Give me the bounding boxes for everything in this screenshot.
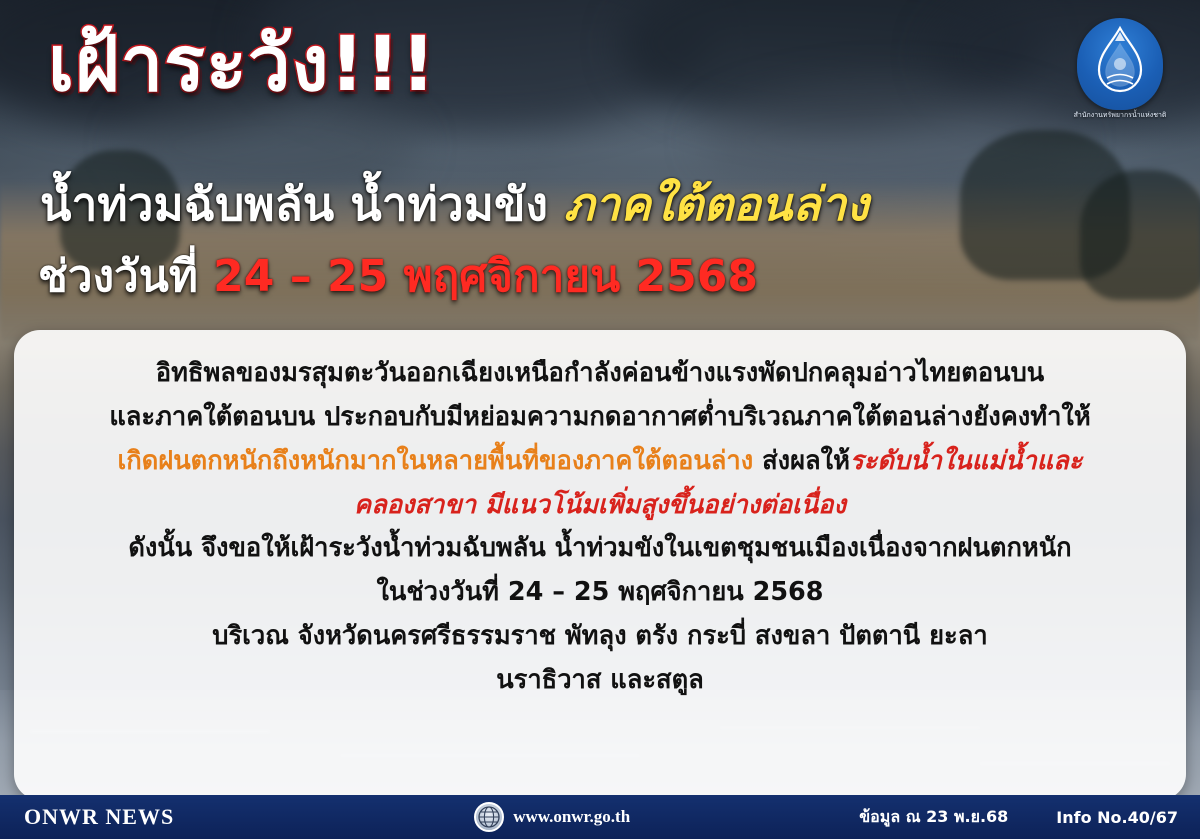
subtitle-line-2: ช่วงวันที่ 24 – 25 พฤศจิกายน 2568 bbox=[38, 252, 758, 303]
footer-bar: ONWR NEWS www.onwr.go.th ข้อมูล ณ 23 พ.ย… bbox=[0, 795, 1200, 839]
subtitle-region-highlight: ภาคใต้ตอนล่าง bbox=[564, 177, 869, 231]
footer-info-number: Info No.40/67 bbox=[1056, 808, 1178, 827]
body-line-4: คลองสาขา มีแนวโน้มเพิ่มสูงขึ้นอย่างต่อเน… bbox=[40, 484, 1160, 528]
announcement-panel: อิทธิพลของมรสุมตะวันออกเฉียงเหนือกำลังค่… bbox=[14, 330, 1186, 800]
tree-silhouette bbox=[1080, 170, 1200, 300]
page-title: เฝ้าระวัง!!! bbox=[48, 26, 437, 102]
poster-root: สำนักงานทรัพยากรน้ำแห่งชาติ เฝ้าระวัง!!!… bbox=[0, 0, 1200, 839]
footer-data-date: ข้อมูล ณ 23 พ.ย.68 bbox=[859, 805, 1008, 830]
body-line-2: และภาคใต้ตอนบน ประกอบกับมีหย่อมความกดอาก… bbox=[40, 396, 1160, 440]
body-line-5: ดังนั้น จึงขอให้เฝ้าระวังน้ำท่วมฉับพลัน … bbox=[40, 527, 1160, 571]
subtitle-line-1: น้ำท่วมฉับพลัน น้ำท่วมขัง ภาคใต้ตอนล่าง bbox=[40, 178, 869, 231]
subtitle-date-range: 24 – 25 พฤศจิกายน 2568 bbox=[213, 251, 758, 302]
body-line-6: ในช่วงวันที่ 24 – 25 พฤศจิกายน 2568 bbox=[40, 571, 1160, 615]
body-line-3-black: ส่งผลให้ bbox=[753, 446, 850, 476]
subtitle-date-prefix: ช่วงวันที่ bbox=[38, 251, 213, 302]
body-line-4-red: คลองสาขา มีแนวโน้มเพิ่มสูงขึ้นอย่างต่อเน… bbox=[354, 490, 846, 520]
body-line-1: อิทธิพลของมรสุมตะวันออกเฉียงเหนือกำลังค่… bbox=[40, 352, 1160, 396]
subtitle-plain: น้ำท่วมฉับพลัน น้ำท่วมขัง bbox=[40, 177, 564, 231]
globe-icon bbox=[474, 802, 504, 832]
water-drop-emblem-icon bbox=[1077, 18, 1163, 110]
body-line-7: บริเวณ จังหวัดนครศรีธรรมราช พัทลุง ตรัง … bbox=[40, 615, 1160, 659]
footer-brand: ONWR NEWS bbox=[24, 804, 174, 830]
body-line-8: นราธิวาส และสตูล bbox=[40, 659, 1160, 703]
onwr-seal: สำนักงานทรัพยากรน้ำแห่งชาติ bbox=[1068, 18, 1172, 136]
footer-url-text: www.onwr.go.th bbox=[513, 807, 630, 827]
footer-website[interactable]: www.onwr.go.th bbox=[474, 802, 630, 832]
seal-caption: สำนักงานทรัพยากรน้ำแห่งชาติ bbox=[1068, 112, 1172, 120]
body-line-3-orange: เกิดฝนตกหนักถึงหนักมากในหลายพื้นที่ของภา… bbox=[118, 446, 754, 476]
body-line-3: เกิดฝนตกหนักถึงหนักมากในหลายพื้นที่ของภา… bbox=[40, 440, 1160, 484]
body-line-3-red: ระดับน้ำในแม่น้ำและ bbox=[850, 446, 1083, 476]
announcement-text: อิทธิพลของมรสุมตะวันออกเฉียงเหนือกำลังค่… bbox=[40, 352, 1160, 703]
